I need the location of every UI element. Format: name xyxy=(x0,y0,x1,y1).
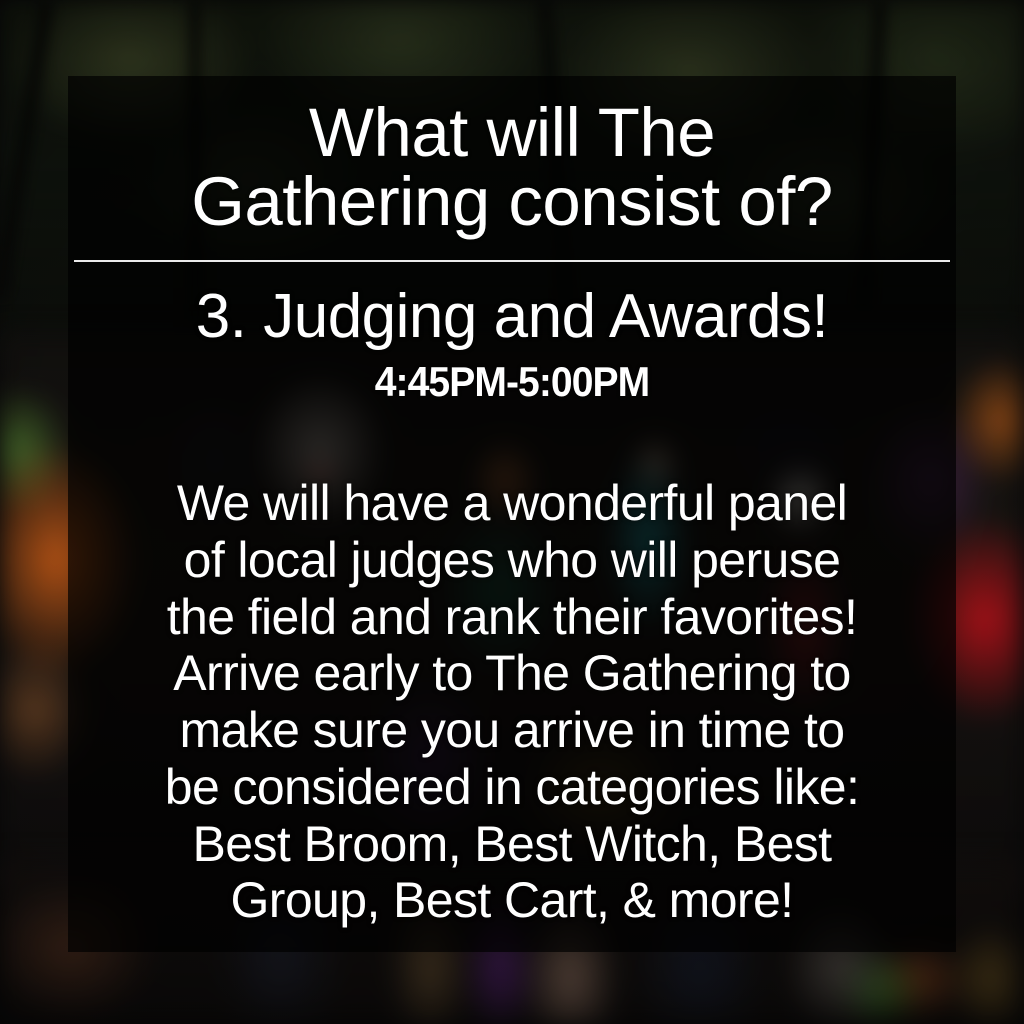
section-heading: 3. Judging and Awards! xyxy=(74,284,950,349)
body-description: We will have a wonderful panel of local … xyxy=(74,475,950,929)
content-panel: What will The Gathering consist of? 3. J… xyxy=(68,76,956,952)
session-time: 4:45PM-5:00PM xyxy=(105,361,920,403)
page-title: What will The Gathering consist of? xyxy=(74,98,950,236)
event-poster: What will The Gathering consist of? 3. J… xyxy=(0,0,1024,1024)
title-divider xyxy=(74,260,950,262)
